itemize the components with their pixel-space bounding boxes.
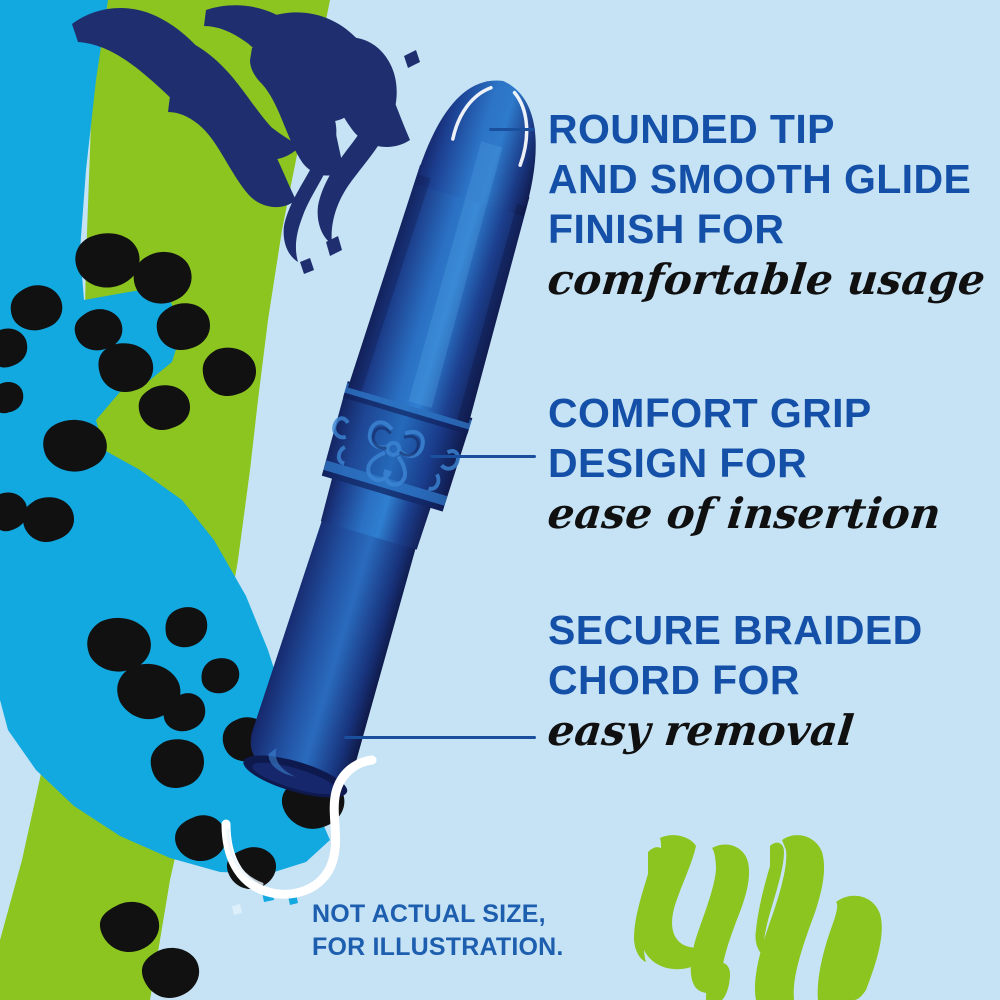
disclaimer-line-2: FOR ILLUSTRATION. <box>312 931 564 964</box>
callout-1-heading-line-2: AND SMOOTH GLIDE <box>548 154 985 204</box>
callout-1-heading-line-3: FINISH FOR <box>548 204 985 254</box>
callout-1-script-text: comfortable usage <box>545 254 987 306</box>
disclaimer-line-1: NOT ACTUAL SIZE, <box>312 898 564 931</box>
leader-line-rounded-tip <box>489 128 535 131</box>
callout-3-heading-line-1: SECURE BRAIDED <box>548 605 923 655</box>
callout-2-script-text: ease of insertion <box>545 488 943 540</box>
callout-comfort-grip: COMFORT GRIP DESIGN FOR ease of insertio… <box>548 388 941 540</box>
callout-rounded-tip: ROUNDED TIP AND SMOOTH GLIDE FINISH FOR … <box>548 104 985 306</box>
leader-line-comfort-grip <box>430 455 536 458</box>
callout-2-heading-line-1: COMFORT GRIP <box>548 388 941 438</box>
disclaimer-text: NOT ACTUAL SIZE, FOR ILLUSTRATION. <box>312 898 564 964</box>
callout-secure-braided-chord: SECURE BRAIDED CHORD FOR easy removal <box>548 605 923 757</box>
callout-3-heading-line-2: CHORD FOR <box>548 655 923 705</box>
callout-2-heading-line-2: DESIGN FOR <box>548 438 941 488</box>
product-infographic: ROUNDED TIP AND SMOOTH GLIDE FINISH FOR … <box>0 0 1000 1000</box>
leader-line-secure-braided-chord <box>344 736 536 739</box>
callout-3-script-text: easy removal <box>545 705 925 757</box>
callout-1-heading-line-1: ROUNDED TIP <box>548 104 985 154</box>
